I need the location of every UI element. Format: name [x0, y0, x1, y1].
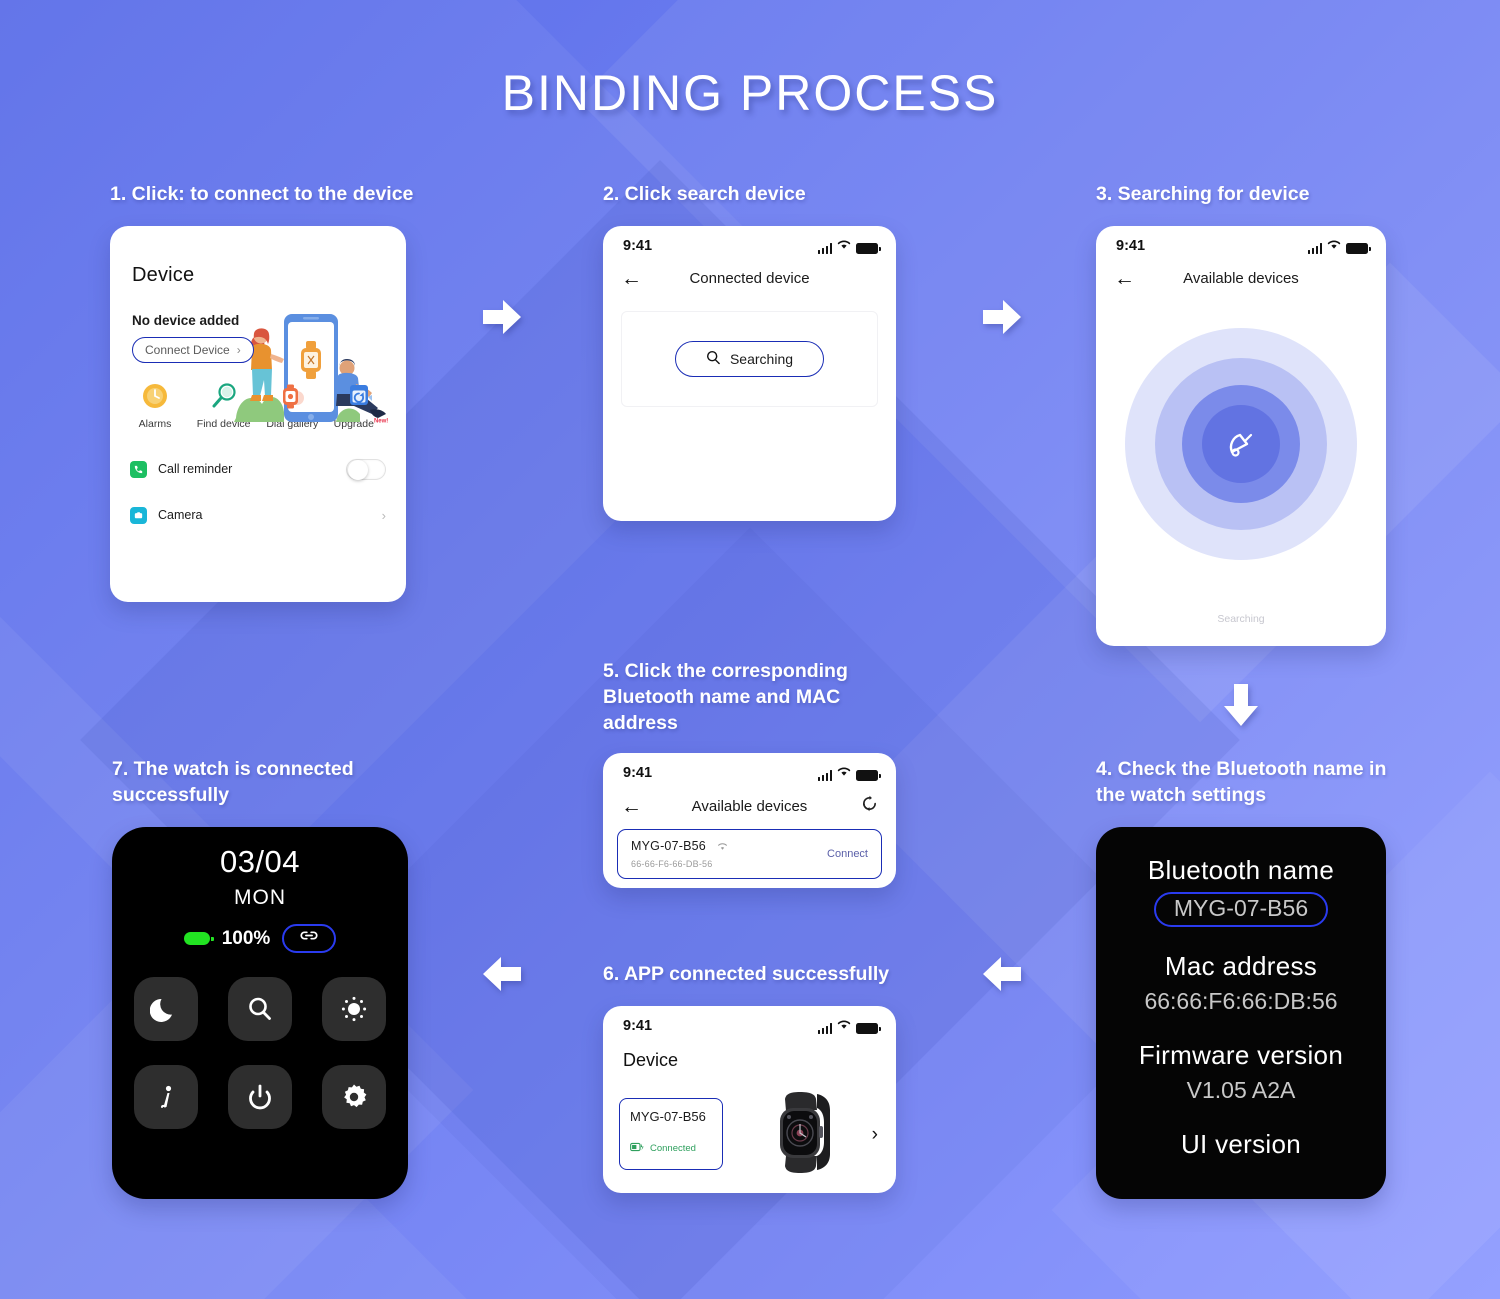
nav-bar: ← Available devices	[603, 785, 896, 827]
info-icon[interactable]	[134, 1065, 198, 1129]
ui-version-label: UI version	[1096, 1129, 1386, 1160]
status-bar: 9:41	[603, 1006, 896, 1038]
battery-full-icon	[1346, 243, 1368, 254]
watch-date: 03/04	[112, 844, 408, 880]
connect-link[interactable]: Connect	[827, 848, 868, 860]
status-label: Connected	[650, 1143, 696, 1154]
watch-face-screen: 03/04 MON 100%	[112, 827, 408, 1199]
wifi-icon	[1327, 238, 1341, 254]
chevron-right-icon[interactable]: ›	[872, 1124, 878, 1146]
card-device-home: Device	[110, 226, 406, 602]
radar-animation	[1096, 299, 1386, 589]
card-device-connected: 9:41 Device MYG-07-B56 C	[603, 1006, 896, 1193]
magnifier-icon[interactable]	[228, 977, 292, 1041]
cellular-bars-icon	[818, 770, 833, 781]
status-time: 9:41	[623, 238, 652, 254]
people-with-phone-and-watch-illustration	[228, 300, 406, 428]
arrow-left-icon-1	[981, 955, 1023, 998]
cellular-bars-icon	[818, 243, 833, 254]
battery-charging-icon	[630, 1142, 645, 1155]
link-icon	[282, 924, 336, 953]
wifi-icon	[717, 840, 728, 854]
watch-weekday: MON	[112, 886, 408, 910]
step-1-caption: 1. Click: to connect to the device	[110, 181, 530, 207]
row-label: Camera	[158, 508, 202, 522]
card-connected-device: 9:41 ← Connected device Searching	[603, 226, 896, 521]
chevron-right-icon: ›	[382, 508, 386, 523]
power-icon[interactable]	[228, 1065, 292, 1129]
battery-percent: 100%	[222, 928, 271, 950]
searching-status-label: Searching	[1096, 613, 1386, 625]
chevron-right-icon: ›	[237, 343, 241, 357]
wifi-icon	[837, 1018, 851, 1034]
status-bar: 9:41	[603, 226, 896, 258]
searching-button-label: Searching	[730, 351, 793, 367]
connect-device-label: Connect Device	[145, 343, 230, 357]
satellite-dish-icon	[1221, 424, 1261, 464]
wifi-icon	[837, 765, 851, 781]
nav-bar: ← Connected device	[603, 258, 896, 299]
status-bar: 9:41	[603, 753, 896, 785]
connected-device-box[interactable]: MYG-07-B56 Connected	[619, 1098, 723, 1170]
nav-bar: ← Available devices	[1096, 258, 1386, 299]
available-device-row[interactable]: MYG-07-B56 66-66-F6-66-DB-56 Connect	[617, 829, 882, 879]
mac-address-value: 66:66:F6:66:DB:56	[1096, 988, 1386, 1015]
status-time: 9:41	[1116, 238, 1145, 254]
device-page-title: Device	[110, 226, 406, 287]
arrow-right-icon-1	[481, 298, 523, 341]
magnifier-icon	[706, 350, 721, 368]
bluetooth-name-value: MYG-07-B56	[1174, 895, 1308, 921]
bluetooth-name-label: Bluetooth name	[1096, 855, 1386, 886]
step-3-caption: 3. Searching for device	[1096, 181, 1426, 207]
page-title: BINDING PROCESS	[0, 64, 1500, 122]
row-camera[interactable]: Camera ›	[110, 492, 406, 538]
arrow-right-icon-2	[981, 298, 1023, 341]
battery-full-icon	[856, 770, 878, 781]
card-available-devices-searching: 9:41 ← Available devices	[1096, 226, 1386, 646]
arrow-down-icon-1	[1220, 682, 1262, 733]
black-smartwatch-photo	[756, 1086, 848, 1178]
watch-dial-icon	[277, 381, 307, 411]
device-name: MYG-07-B56	[631, 839, 728, 854]
watch-settings-screen: Bluetooth name MYG-07-B56 Mac address 66…	[1096, 827, 1386, 1199]
upgrade-icon	[346, 381, 376, 411]
device-mac-address: 66-66-F6-66-DB-56	[631, 859, 728, 869]
connect-device-button[interactable]: Connect Device ›	[132, 337, 254, 363]
alarm-clock-icon	[140, 381, 170, 411]
tile-label: Alarms	[124, 418, 186, 430]
tile-alarms[interactable]: Alarms	[124, 381, 186, 430]
step-7-caption: 7. The watch is connected successfully	[112, 756, 402, 808]
device-page-title: Device	[603, 1038, 896, 1071]
status-bar: 9:41	[1096, 226, 1386, 258]
watch-status-row: 100%	[112, 924, 408, 953]
card-available-devices-found: 9:41 ← Available devices	[603, 753, 896, 888]
brightness-icon[interactable]	[322, 977, 386, 1041]
gear-icon[interactable]	[322, 1065, 386, 1129]
nav-title: Available devices	[603, 798, 896, 815]
step-4-caption: 4. Check the Bluetooth name in the watch…	[1096, 756, 1396, 808]
cellular-bars-icon	[818, 1023, 833, 1034]
step-5-caption: 5. Click the corresponding Bluetooth nam…	[603, 658, 883, 736]
mac-address-label: Mac address	[1096, 951, 1386, 982]
device-name: MYG-07-B56	[630, 1109, 722, 1124]
phone-call-icon	[130, 461, 147, 478]
step-2-caption: 2. Click search device	[603, 181, 933, 207]
nav-title: Connected device	[603, 270, 896, 287]
call-reminder-toggle[interactable]	[346, 459, 386, 480]
step-6-caption: 6. APP connected successfully	[603, 961, 943, 987]
searching-button[interactable]: Searching	[675, 341, 824, 377]
wifi-icon	[837, 238, 851, 254]
cellular-bars-icon	[1308, 243, 1323, 254]
battery-full-icon	[856, 243, 878, 254]
watch-quick-tiles	[112, 977, 408, 1129]
refresh-icon[interactable]	[861, 795, 878, 817]
nav-title: Available devices	[1096, 270, 1386, 287]
bluetooth-name-highlight: MYG-07-B56	[1154, 892, 1328, 927]
magnifier-icon	[209, 381, 239, 411]
battery-full-icon	[184, 932, 210, 945]
status-time: 9:41	[623, 765, 652, 781]
moon-icon[interactable]	[134, 977, 198, 1041]
search-panel: Searching	[621, 311, 878, 407]
camera-icon	[130, 507, 147, 524]
row-call-reminder[interactable]: Call reminder	[110, 446, 406, 492]
row-label: Call reminder	[158, 462, 232, 476]
firmware-version-value: V1.05 A2A	[1096, 1077, 1386, 1104]
firmware-version-label: Firmware version	[1096, 1040, 1386, 1071]
status-time: 9:41	[623, 1018, 652, 1034]
binding-process-infographic: BINDING PROCESS 1. Click: to connect to …	[0, 0, 1500, 1299]
arrow-left-icon-2	[481, 955, 523, 998]
device-status: Connected	[630, 1142, 722, 1155]
battery-full-icon	[856, 1023, 878, 1034]
